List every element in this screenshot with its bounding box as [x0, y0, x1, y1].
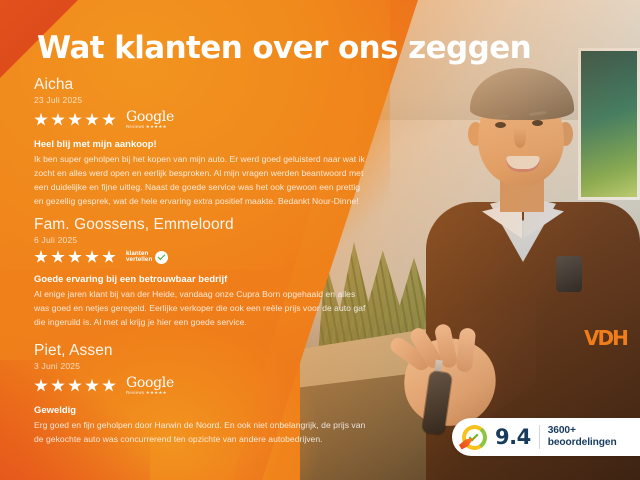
google-wordmark: Google	[126, 110, 174, 124]
review-card: Aicha 23 Juli 2025 Google Reviews ★★★★★ …	[34, 76, 366, 209]
review-card: Piet, Assen 3 Juni 2025 Google Reviews ★…	[34, 342, 366, 447]
review-card: Fam. Goossens, Emmeloord 6 Juli 2025 kla…	[34, 216, 366, 330]
star-icon	[68, 250, 82, 264]
star-icon	[51, 113, 65, 127]
rating-stars	[34, 113, 116, 127]
score-value: 9.4	[495, 425, 531, 449]
review-title: Goede ervaring bij een betrouwbaar bedri…	[34, 273, 366, 284]
reviewer-name: Aicha	[34, 76, 366, 93]
review-title: Heel blij met mijn aankoop!	[34, 138, 366, 149]
page-title: Wat klanten over ons zeggen	[37, 30, 531, 66]
google-reviews-badge: Google Reviews ★★★★★	[126, 376, 174, 395]
review-body: Al enige jaren klant bij van der Heide, …	[34, 288, 366, 330]
star-icon	[102, 250, 116, 264]
klantenvertellen-badge: klanten vertellen	[126, 251, 168, 264]
google-reviews-badge: Google Reviews ★★★★★	[126, 110, 174, 129]
star-icon	[51, 250, 65, 264]
divider	[539, 425, 540, 449]
star-icon	[68, 379, 82, 393]
review-date: 6 Juli 2025	[34, 235, 366, 245]
review-body: Ik ben super geholpen bij het kopen van …	[34, 153, 366, 209]
star-icon	[102, 379, 116, 393]
review-count: 3600+ beoordelingen	[548, 425, 617, 449]
star-icon	[68, 113, 82, 127]
star-icon	[34, 379, 48, 393]
star-icon	[85, 379, 99, 393]
star-icon	[85, 113, 99, 127]
star-icon	[34, 250, 48, 264]
google-reviews-subtext: Reviews ★★★★★	[126, 125, 167, 129]
review-count-label: beoordelingen	[548, 437, 617, 449]
review-date: 23 Juli 2025	[34, 95, 366, 105]
star-icon	[102, 113, 116, 127]
status-badge: 9.4 3600+ beoordelingen	[452, 418, 640, 456]
star-icon	[34, 113, 48, 127]
klantenvertellen-line2: vertellen	[126, 257, 152, 264]
review-date: 3 Juni 2025	[34, 361, 366, 371]
review-meta: klanten vertellen	[34, 250, 366, 264]
review-meta: Google Reviews ★★★★★	[34, 376, 366, 395]
google-wordmark: Google	[126, 376, 174, 390]
reviewer-name: Fam. Goossens, Emmeloord	[34, 216, 366, 233]
review-title: Geweldig	[34, 404, 366, 415]
review-body: Erg goed en fijn geholpen door Harwin de…	[34, 419, 366, 447]
rating-stars	[34, 250, 116, 264]
review-count-number: 3600+	[548, 425, 617, 437]
klantenvertellen-logo	[462, 425, 487, 450]
star-icon	[51, 379, 65, 393]
klantenvertellen-wordmark: klanten vertellen	[126, 251, 152, 264]
reviewer-name: Piet, Assen	[34, 342, 366, 359]
rating-stars	[34, 379, 116, 393]
content-layer: Wat klanten over ons zeggen Aicha 23 Jul…	[0, 0, 640, 480]
review-meta: Google Reviews ★★★★★	[34, 110, 366, 129]
star-icon	[85, 250, 99, 264]
google-reviews-subtext: Reviews ★★★★★	[126, 391, 167, 395]
check-circle-icon	[155, 251, 168, 264]
